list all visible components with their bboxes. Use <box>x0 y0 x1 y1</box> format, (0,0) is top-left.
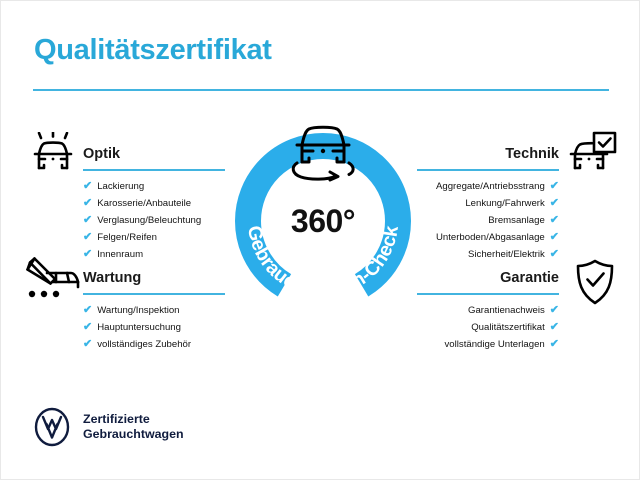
section-garantie: Garantie Garantienachweis✔ Qualitätszert… <box>417 269 559 353</box>
list-item: Bremsanlage✔ <box>417 212 559 229</box>
title-divider <box>33 89 609 91</box>
section-garantie-header: Garantie <box>417 269 559 295</box>
section-wartung-divider <box>83 293 225 295</box>
section-technik-divider <box>417 169 559 171</box>
list-item: ✔Karosserie/Anbauteile <box>83 195 225 212</box>
section-garantie-title: Garantie <box>417 269 559 287</box>
check-icon: ✔ <box>83 246 92 262</box>
list-item-label: Garantienachweis <box>468 303 545 319</box>
list-item-label: Unterboden/Abgasanlage <box>436 230 545 246</box>
section-optik: Optik ✔Lackierung ✔Karosserie/Anbauteile… <box>83 145 225 263</box>
check-icon: ✔ <box>550 319 559 335</box>
check-icon: ✔ <box>83 195 92 211</box>
list-item-label: Sicherheit/Elektrik <box>468 247 545 263</box>
section-technik-list: Aggregate/Antriebsstrang✔ Lenkung/Fahrwe… <box>417 178 559 263</box>
list-item: ✔vollständiges Zubehör <box>83 336 225 353</box>
list-item-label: Qualitätszertifikat <box>471 320 545 336</box>
section-technik-title: Technik <box>417 145 559 163</box>
shield-check-icon <box>575 259 615 305</box>
page-title: Qualitätszertifikat <box>34 34 272 67</box>
list-item-label: Lenkung/Fahrwerk <box>465 196 544 212</box>
check-icon: ✔ <box>83 212 92 228</box>
check-icon: ✔ <box>550 302 559 318</box>
check-icon: ✔ <box>550 195 559 211</box>
check-icon: ✔ <box>83 229 92 245</box>
check-icon: ✔ <box>550 178 559 194</box>
section-wartung: Wartung ✔Wartung/Inspektion ✔Hauptunters… <box>83 269 225 353</box>
badge-360-gebrauchtwagen-check: Gebrauchtwagen-Check 360° <box>229 127 417 315</box>
pencil-car-service-icon <box>25 257 81 301</box>
list-item: Lenkung/Fahrwerk✔ <box>417 195 559 212</box>
list-item: vollständige Unterlagen✔ <box>417 336 559 353</box>
list-item: Qualitätszertifikat✔ <box>417 319 559 336</box>
list-item-label: Bremsanlage <box>488 213 545 229</box>
list-item-label: Karosserie/Anbauteile <box>97 196 191 212</box>
vw-logo-icon <box>32 407 72 447</box>
check-icon: ✔ <box>83 319 92 335</box>
list-item-label: vollständige Unterlagen <box>445 337 545 353</box>
list-item: ✔Verglasung/Beleuchtung <box>83 212 225 229</box>
section-wartung-title: Wartung <box>83 269 225 287</box>
section-optik-title: Optik <box>83 145 225 163</box>
check-icon: ✔ <box>550 229 559 245</box>
section-technik: Technik Aggregate/Antriebsstrang✔ Lenkun… <box>417 145 559 263</box>
check-icon: ✔ <box>83 302 92 318</box>
check-icon: ✔ <box>550 246 559 262</box>
list-item-label: Innenraum <box>97 247 143 263</box>
list-item-label: Aggregate/Antriebsstrang <box>436 179 545 195</box>
list-item-label: Verglasung/Beleuchtung <box>97 213 201 229</box>
section-garantie-divider <box>417 293 559 295</box>
section-wartung-list: ✔Wartung/Inspektion ✔Hauptuntersuchung ✔… <box>83 302 225 353</box>
list-item: Garantienachweis✔ <box>417 302 559 319</box>
section-garantie-list: Garantienachweis✔ Qualitätszertifikat✔ v… <box>417 302 559 353</box>
check-icon: ✔ <box>550 212 559 228</box>
list-item: ✔Innenraum <box>83 246 225 263</box>
check-icon: ✔ <box>83 178 92 194</box>
list-item: ✔Hauptuntersuchung <box>83 319 225 336</box>
list-item: Sicherheit/Elektrik✔ <box>417 246 559 263</box>
list-item-label: Hauptuntersuchung <box>97 320 181 336</box>
list-item: ✔Felgen/Reifen <box>83 229 225 246</box>
list-item: ✔Wartung/Inspektion <box>83 302 225 319</box>
section-optik-header: Optik <box>83 145 225 171</box>
certificate-page: Qualitätszertifikat Optik ✔Lackierung ✔K… <box>0 0 640 480</box>
vw-logo-text-line1: Zertifizierte <box>83 412 184 427</box>
section-technik-header: Technik <box>417 145 559 171</box>
list-item: Unterboden/Abgasanlage✔ <box>417 229 559 246</box>
vw-logo-text-line2: Gebrauchtwagen <box>83 427 184 442</box>
list-item-label: Wartung/Inspektion <box>97 303 179 319</box>
section-optik-divider <box>83 169 225 171</box>
check-icon: ✔ <box>550 336 559 352</box>
car-front-checkbox-icon <box>567 131 619 175</box>
section-optik-list: ✔Lackierung ✔Karosserie/Anbauteile ✔Verg… <box>83 178 225 263</box>
list-item-label: Felgen/Reifen <box>97 230 157 246</box>
section-wartung-header: Wartung <box>83 269 225 295</box>
list-item: ✔Lackierung <box>83 178 225 195</box>
list-item: Aggregate/Antriebsstrang✔ <box>417 178 559 195</box>
car-rotate-360-icon <box>283 121 363 183</box>
list-item-label: Lackierung <box>97 179 144 195</box>
vw-certified-logo: Zertifizierte Gebrauchtwagen <box>32 407 184 447</box>
car-front-lights-icon <box>27 132 79 176</box>
badge-ring-label: Gebrauchtwagen-Check <box>243 224 403 302</box>
list-item-label: vollständiges Zubehör <box>97 337 191 353</box>
vw-logo-text: Zertifizierte Gebrauchtwagen <box>83 412 184 442</box>
check-icon: ✔ <box>83 336 92 352</box>
